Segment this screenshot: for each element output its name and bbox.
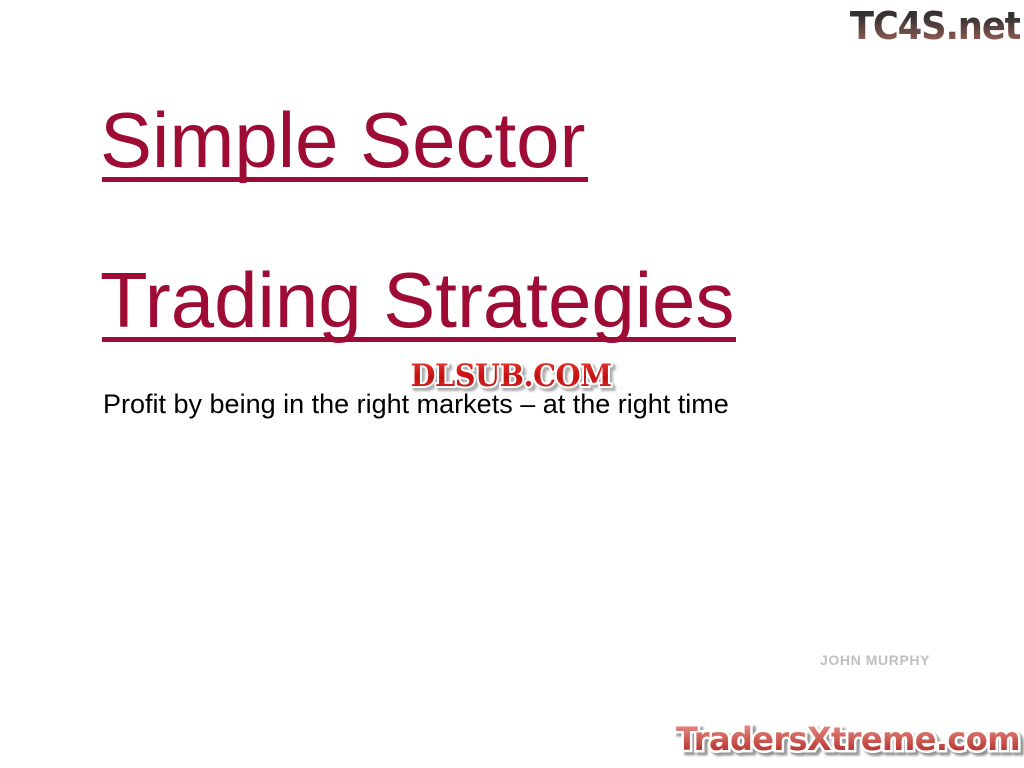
dlsub-watermark: DLSUB.COM DLSUB.COM	[370, 358, 652, 396]
title-line-2-text: Trading Strategies	[100, 256, 734, 348]
presentation-slide: TC4S.net Simple Sector Trading Strategie…	[0, 0, 1024, 768]
title-line-1-text: Simple Sector	[100, 96, 586, 188]
tc4s-wordmark: TC4S.net	[849, 4, 1020, 48]
title-line-1: Simple Sector	[100, 96, 930, 188]
author-credit: JOHN MURPHY	[820, 651, 930, 669]
page-title: Simple Sector Trading Strategies	[100, 96, 930, 348]
dlsub-wordmark: DLSUB.COM	[410, 361, 611, 394]
tc4s-site-logo[interactable]: TC4S.net	[830, 2, 1020, 50]
tradersxtreme-wordmark: TradersXtreme.com	[676, 720, 1020, 758]
title-line-2: Trading Strategies	[100, 256, 930, 348]
tradersxtreme-site-logo[interactable]: TradersXtreme.com TradersXtreme.com	[678, 716, 1018, 762]
